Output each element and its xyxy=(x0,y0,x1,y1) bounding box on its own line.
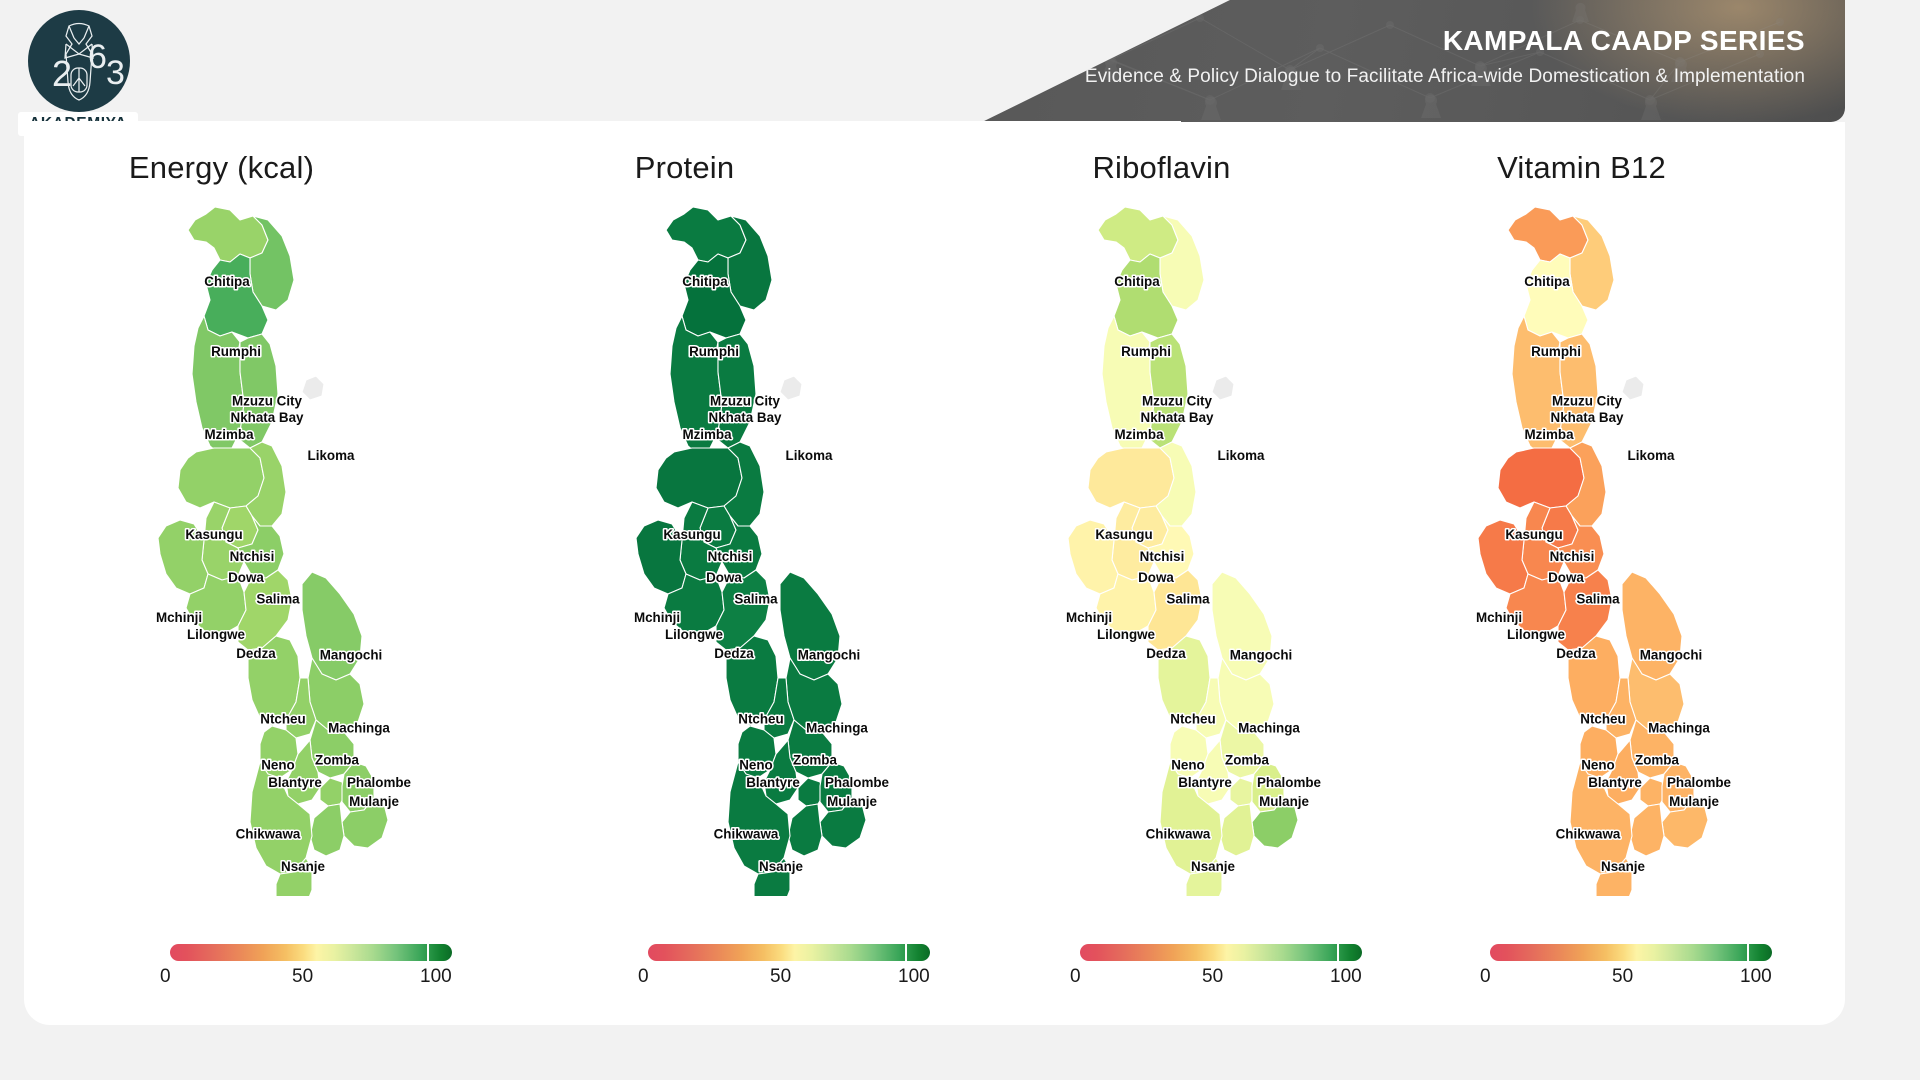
panel-title-vitamin-b12: Vitamin B12 xyxy=(1374,150,1829,186)
district-label-nsanje: Nsanje xyxy=(281,859,325,874)
svg-text:6: 6 xyxy=(88,38,107,76)
district-label-kasungu: Kasungu xyxy=(185,527,242,542)
header-banner: KAMPALA CAADP SERIES Evidence & Policy D… xyxy=(960,0,1845,122)
district-label-dedza: Dedza xyxy=(714,646,754,661)
district-label-dowa: Dowa xyxy=(1548,570,1584,585)
district-label-machinga: Machinga xyxy=(1648,721,1710,736)
district-label-nsanje: Nsanje xyxy=(1191,859,1235,874)
colorbar-tick-0: 0 xyxy=(638,966,649,988)
district-label-nkhata-bay: Nkhata Bay xyxy=(1551,410,1624,425)
colorbar-tick-0: 0 xyxy=(160,966,171,988)
district-label-mulanje: Mulanje xyxy=(827,794,877,809)
district-label-ntcheu: Ntcheu xyxy=(260,712,305,727)
district-label-mzuzu-city: Mzuzu City xyxy=(1552,393,1622,408)
svg-text:3: 3 xyxy=(106,54,125,92)
district-label-mzuzu-city: Mzuzu City xyxy=(232,393,302,408)
district-label-zomba: Zomba xyxy=(1225,752,1269,767)
district-label-mangochi: Mangochi xyxy=(1230,647,1293,662)
district-label-mchinji: Mchinji xyxy=(634,610,680,625)
district-label-dedza: Dedza xyxy=(1146,646,1186,661)
district-label-neno: Neno xyxy=(261,757,294,772)
district-kasungu[interactable] xyxy=(178,448,264,508)
map-panel-protein: Protein ChitipaRumphiMzuzu CityNkhata Ba… xyxy=(532,122,987,1025)
colorbar-tick-50: 50 xyxy=(292,966,313,988)
district-label-rumphi: Rumphi xyxy=(1531,344,1581,359)
colorbar-riboflavin: 0 50 100 xyxy=(964,944,1419,1006)
district-likoma[interactable] xyxy=(1622,376,1644,400)
district-label-mangochi: Mangochi xyxy=(1640,647,1703,662)
district-label-likoma: Likoma xyxy=(308,448,355,463)
district-thyolo[interactable] xyxy=(1220,804,1254,856)
district-label-chikwawa: Chikwawa xyxy=(1556,827,1621,842)
district-label-chitipa: Chitipa xyxy=(682,274,728,289)
map-panel-riboflavin: Riboflavin ChitipaRumphiMzuzu CityNkhata… xyxy=(964,122,1419,1025)
district-label-blantyre: Blantyre xyxy=(746,775,800,790)
district-thyolo[interactable] xyxy=(310,804,344,856)
map-panel-grid: Energy (kcal) ChitipaRumphiMzuzu CityNkh… xyxy=(24,122,1845,1025)
district-label-ntchisi: Ntchisi xyxy=(708,549,753,564)
district-label-dowa: Dowa xyxy=(706,570,742,585)
panel-title-riboflavin: Riboflavin xyxy=(964,150,1419,186)
district-label-chitipa: Chitipa xyxy=(1524,274,1570,289)
district-label-likoma: Likoma xyxy=(1218,448,1265,463)
banner-subtitle: Evidence & Policy Dialogue to Facilitate… xyxy=(1085,66,1805,88)
district-label-dedza: Dedza xyxy=(1556,646,1596,661)
district-kasungu[interactable] xyxy=(1088,448,1174,508)
choropleth-map-riboflavin[interactable]: ChitipaRumphiMzuzu CityNkhata BayMzimbaL… xyxy=(964,196,1419,896)
district-label-dowa: Dowa xyxy=(228,570,264,585)
banner-network-texture xyxy=(960,0,1845,122)
district-label-machinga: Machinga xyxy=(328,721,390,736)
district-label-ntcheu: Ntcheu xyxy=(738,712,783,727)
district-label-zomba: Zomba xyxy=(315,752,359,767)
district-label-mzimba: Mzimba xyxy=(204,427,254,442)
district-label-salima: Salima xyxy=(256,591,300,606)
colorbar-tick-100: 100 xyxy=(420,966,452,988)
district-label-mzimba: Mzimba xyxy=(682,427,732,442)
district-label-dowa: Dowa xyxy=(1138,570,1174,585)
colorbar-gradient xyxy=(1080,944,1362,961)
colorbar-energy: 0 50 100 xyxy=(54,944,509,1006)
district-label-mulanje: Mulanje xyxy=(1669,794,1719,809)
district-label-zomba: Zomba xyxy=(793,752,837,767)
svg-text:2: 2 xyxy=(52,53,72,94)
colorbar-tick-labels: 0 50 100 xyxy=(170,966,452,992)
district-label-blantyre: Blantyre xyxy=(268,775,322,790)
colorbar-tick-50: 50 xyxy=(1202,966,1223,988)
district-label-rumphi: Rumphi xyxy=(1121,344,1171,359)
colorbar-tick-100: 100 xyxy=(1740,966,1772,988)
district-label-chikwawa: Chikwawa xyxy=(714,827,779,842)
panel-title-energy: Energy (kcal) xyxy=(54,150,509,186)
district-thyolo[interactable] xyxy=(788,804,822,856)
district-label-kasungu: Kasungu xyxy=(1505,527,1562,542)
district-label-mchinji: Mchinji xyxy=(1476,610,1522,625)
malawi-map-svg[interactable]: ChitipaRumphiMzuzu CityNkhata BayMzimbaL… xyxy=(532,196,987,896)
district-label-mchinji: Mchinji xyxy=(1066,610,1112,625)
district-label-neno: Neno xyxy=(1581,757,1614,772)
akademiya2063-logo: 2 6 3 AKADEMIYA xyxy=(18,8,138,136)
banner-title: KAMPALA CAADP SERIES xyxy=(1443,25,1805,57)
district-label-mzuzu-city: Mzuzu City xyxy=(1142,393,1212,408)
logo-mask-icon: 2 6 3 xyxy=(28,10,130,112)
district-likoma[interactable] xyxy=(1212,376,1234,400)
district-label-ntcheu: Ntcheu xyxy=(1580,712,1625,727)
district-label-chitipa: Chitipa xyxy=(1114,274,1160,289)
malawi-map-svg[interactable]: ChitipaRumphiMzuzu CityNkhata BayMzimbaL… xyxy=(54,196,509,896)
colorbar-tick-labels: 0 50 100 xyxy=(1080,966,1362,992)
map-panel-vitamin-b12: Vitamin B12 ChitipaRumphiMzuzu CityNkhat… xyxy=(1374,122,1829,1025)
district-label-lilongwe: Lilongwe xyxy=(665,627,723,642)
district-label-ntchisi: Ntchisi xyxy=(230,549,275,564)
colorbar-tick-100: 100 xyxy=(898,966,930,988)
district-label-lilongwe: Lilongwe xyxy=(1507,627,1565,642)
malawi-map-svg[interactable]: ChitipaRumphiMzuzu CityNkhata BayMzimbaL… xyxy=(964,196,1419,896)
colorbar-tick-50: 50 xyxy=(1612,966,1633,988)
district-label-mzimba: Mzimba xyxy=(1524,427,1574,442)
district-label-ntchisi: Ntchisi xyxy=(1140,549,1185,564)
district-label-mangochi: Mangochi xyxy=(798,647,861,662)
district-thyolo[interactable] xyxy=(1630,804,1664,856)
district-chitipa[interactable] xyxy=(1098,207,1178,262)
district-label-nkhata-bay: Nkhata Bay xyxy=(1141,410,1214,425)
colorbar-vitamin-b12: 0 50 100 xyxy=(1374,944,1829,1006)
district-label-kasungu: Kasungu xyxy=(663,527,720,542)
district-chitipa[interactable] xyxy=(1508,207,1588,262)
district-label-mchinji: Mchinji xyxy=(156,610,202,625)
district-likoma[interactable] xyxy=(780,376,802,400)
colorbar-tick-0: 0 xyxy=(1480,966,1491,988)
district-label-chikwawa: Chikwawa xyxy=(236,827,301,842)
colorbar-tick-50: 50 xyxy=(770,966,791,988)
district-label-machinga: Machinga xyxy=(806,721,868,736)
colorbar-tick-0: 0 xyxy=(1070,966,1081,988)
district-label-chikwawa: Chikwawa xyxy=(1146,827,1211,842)
colorbar-midpoint-tick xyxy=(1747,944,1749,961)
district-label-phalombe: Phalombe xyxy=(1667,775,1731,790)
district-label-likoma: Likoma xyxy=(1628,448,1675,463)
colorbar-tick-100: 100 xyxy=(1330,966,1362,988)
district-label-nkhata-bay: Nkhata Bay xyxy=(709,410,782,425)
district-label-zomba: Zomba xyxy=(1635,752,1679,767)
district-label-ntcheu: Ntcheu xyxy=(1170,712,1215,727)
district-label-ntchisi: Ntchisi xyxy=(1550,549,1595,564)
colorbar-gradient xyxy=(170,944,452,961)
district-label-mulanje: Mulanje xyxy=(1259,794,1309,809)
district-label-nkhata-bay: Nkhata Bay xyxy=(231,410,304,425)
district-likoma[interactable] xyxy=(302,376,324,400)
colorbar-midpoint-tick xyxy=(427,944,429,961)
district-kasungu[interactable] xyxy=(1498,448,1584,508)
district-label-mzimba: Mzimba xyxy=(1114,427,1164,442)
district-label-rumphi: Rumphi xyxy=(689,344,739,359)
colorbar-gradient xyxy=(648,944,930,961)
district-label-phalombe: Phalombe xyxy=(1257,775,1321,790)
district-chitipa[interactable] xyxy=(666,207,746,262)
district-label-salima: Salima xyxy=(734,591,778,606)
colorbar-protein: 0 50 100 xyxy=(532,944,987,1006)
district-label-neno: Neno xyxy=(739,757,772,772)
district-label-machinga: Machinga xyxy=(1238,721,1300,736)
district-label-salima: Salima xyxy=(1166,591,1210,606)
district-label-salima: Salima xyxy=(1576,591,1620,606)
district-label-mulanje: Mulanje xyxy=(349,794,399,809)
malawi-map-svg[interactable]: ChitipaRumphiMzuzu CityNkhata BayMzimbaL… xyxy=(1374,196,1829,896)
district-label-nsanje: Nsanje xyxy=(759,859,803,874)
district-chitipa[interactable] xyxy=(188,207,268,262)
district-label-mzuzu-city: Mzuzu City xyxy=(710,393,780,408)
colorbar-midpoint-tick xyxy=(905,944,907,961)
panel-title-protein: Protein xyxy=(532,150,987,186)
district-kasungu[interactable] xyxy=(656,448,742,508)
colorbar-midpoint-tick xyxy=(1337,944,1339,961)
choropleth-map-protein[interactable]: ChitipaRumphiMzuzu CityNkhata BayMzimbaL… xyxy=(532,196,987,896)
district-label-lilongwe: Lilongwe xyxy=(187,627,245,642)
district-label-phalombe: Phalombe xyxy=(825,775,889,790)
district-label-chitipa: Chitipa xyxy=(204,274,250,289)
colorbar-tick-labels: 0 50 100 xyxy=(1490,966,1772,992)
map-panel-energy: Energy (kcal) ChitipaRumphiMzuzu CityNkh… xyxy=(54,122,509,1025)
district-label-nsanje: Nsanje xyxy=(1601,859,1645,874)
district-label-rumphi: Rumphi xyxy=(211,344,261,359)
district-label-blantyre: Blantyre xyxy=(1588,775,1642,790)
district-label-mangochi: Mangochi xyxy=(320,647,383,662)
district-label-lilongwe: Lilongwe xyxy=(1097,627,1155,642)
choropleth-map-vitamin-b12[interactable]: ChitipaRumphiMzuzu CityNkhata BayMzimbaL… xyxy=(1374,196,1829,896)
colorbar-gradient xyxy=(1490,944,1772,961)
slide-root: KAMPALA CAADP SERIES Evidence & Policy D… xyxy=(0,0,1920,1080)
district-label-dedza: Dedza xyxy=(236,646,276,661)
district-label-neno: Neno xyxy=(1171,757,1204,772)
district-label-kasungu: Kasungu xyxy=(1095,527,1152,542)
district-label-likoma: Likoma xyxy=(786,448,833,463)
colorbar-tick-labels: 0 50 100 xyxy=(648,966,930,992)
district-label-blantyre: Blantyre xyxy=(1178,775,1232,790)
district-label-phalombe: Phalombe xyxy=(347,775,411,790)
choropleth-map-energy[interactable]: ChitipaRumphiMzuzu CityNkhata BayMzimbaL… xyxy=(54,196,509,896)
